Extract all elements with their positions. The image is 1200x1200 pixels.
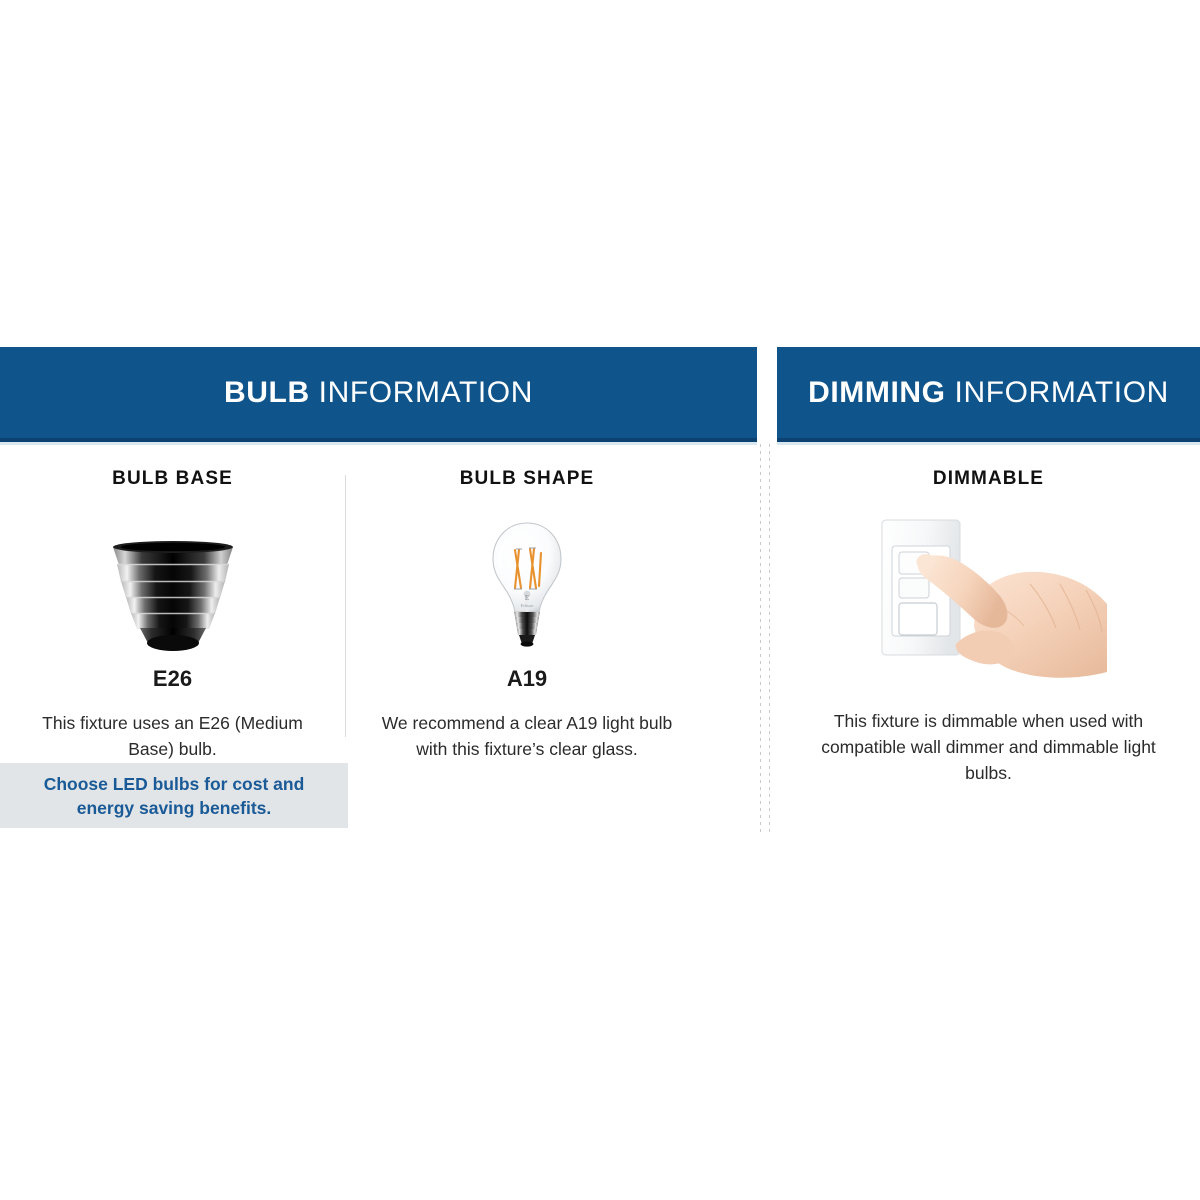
bulb-base-image: [0, 502, 345, 652]
bulb-shape-image: E Edison: [349, 502, 705, 652]
bulb-column-divider: [345, 475, 346, 737]
bulb-shape-heading: BULB SHAPE: [349, 468, 705, 490]
dimming-information-title-strong: DIMMING: [808, 376, 946, 409]
bulb-information-header: BULB INFORMATION: [0, 347, 757, 442]
a19-bulb-icon: E Edison: [485, 520, 569, 652]
bulb-base-description: This fixture uses an E26 (Medium Base) b…: [0, 710, 345, 762]
dimming-information-title-light: INFORMATION: [946, 376, 1169, 409]
dimming-information-header: DIMMING INFORMATION: [777, 347, 1200, 442]
bulb-base-spec: E26: [0, 666, 345, 692]
led-callout-box: Choose LED bulbs for cost and energy sav…: [0, 763, 348, 828]
dimming-information-title: DIMMING INFORMATION: [808, 376, 1169, 410]
dimmable-image: [777, 504, 1200, 694]
panel-dotted-divider-right: [769, 444, 770, 836]
bulb-base-screw-icon: [107, 537, 239, 652]
led-callout-text: Choose LED bulbs for cost and energy sav…: [0, 772, 348, 820]
panel-dotted-divider-left: [760, 444, 761, 836]
bulb-and-dimming-info-page: BULB INFORMATION DIMMING INFORMATION BUL…: [0, 0, 1200, 1200]
bulb-information-title: BULB INFORMATION: [224, 376, 533, 410]
bulb-shape-spec: A19: [349, 666, 705, 692]
bulb-base-column: BULB BASE: [0, 468, 345, 762]
dimmable-description: This fixture is dimmable when used with …: [777, 708, 1200, 786]
bulb-shape-column: BULB SHAPE: [349, 468, 705, 762]
svg-text:Edison: Edison: [521, 603, 534, 608]
bulb-information-title-strong: BULB: [224, 376, 310, 409]
dimmable-heading: DIMMABLE: [777, 468, 1200, 490]
bulb-base-heading: BULB BASE: [0, 468, 345, 490]
bulb-shape-description: We recommend a clear A19 light bulb with…: [349, 710, 705, 762]
svg-text:E: E: [525, 594, 529, 602]
bulb-header-underline: [0, 442, 757, 445]
bulb-information-title-light: INFORMATION: [310, 376, 533, 409]
wall-dimmer-switch-hand-icon: [864, 504, 1114, 694]
dimming-header-underline: [777, 442, 1200, 445]
dimmable-column: DIMMABLE: [777, 468, 1200, 786]
